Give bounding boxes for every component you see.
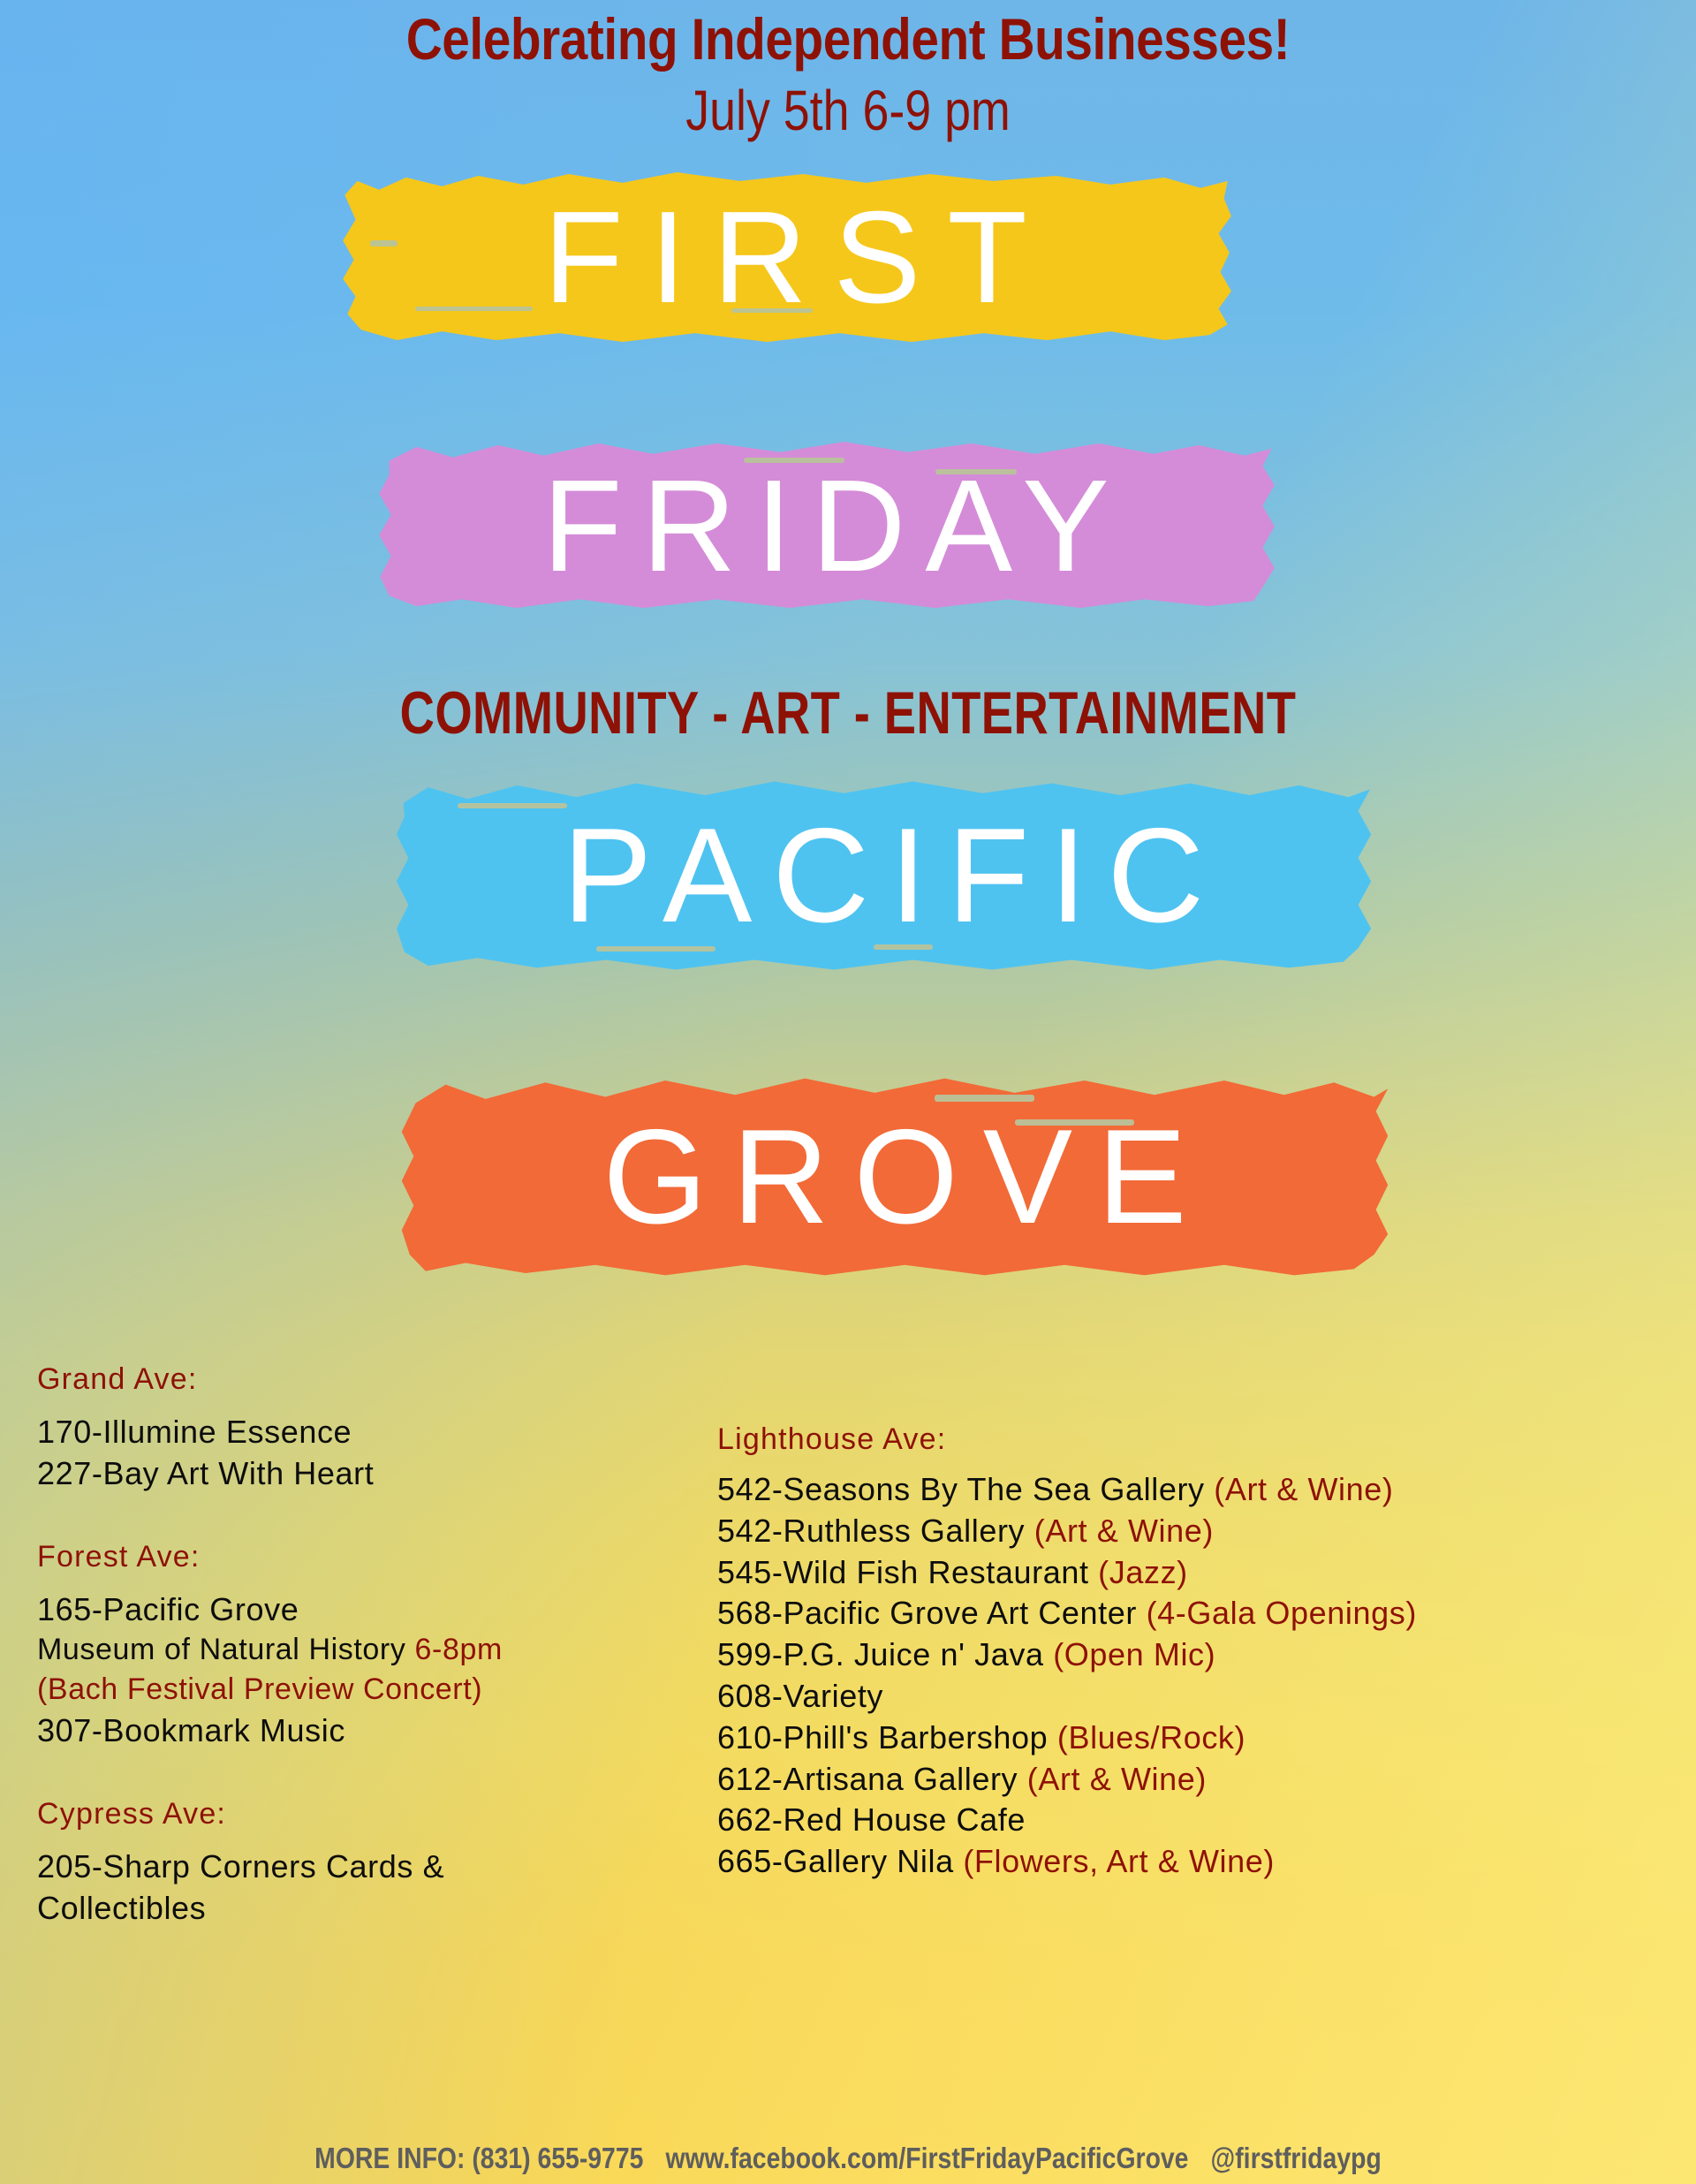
- list-item: 545-Wild Fish Restaurant (Jazz): [717, 1552, 1689, 1594]
- list-item: Collectibles: [37, 1887, 726, 1929]
- event-date-time: July 5th 6-9 pm: [136, 78, 1561, 143]
- list-item: 170-Illumine Essence: [37, 1411, 726, 1452]
- listings-right-column: Lighthouse Ave: 542-Seasons By The Sea G…: [717, 1422, 1689, 1883]
- brush-texture-fleck: [935, 469, 1018, 474]
- list-item: 665-Gallery Nila (Flowers, Art & Wine): [717, 1841, 1689, 1883]
- listing-note: 6-8pm: [415, 1633, 503, 1666]
- listing-name: 170-Illumine Essence: [37, 1414, 352, 1450]
- footer-handle[interactable]: @firstfridaypg: [1211, 2142, 1382, 2174]
- brush-texture-fleck: [1015, 1119, 1135, 1126]
- brush-texture-fleck: [458, 803, 566, 808]
- listing-name: Collectibles: [37, 1890, 206, 1926]
- listing-name: Museum of Natural History: [37, 1633, 415, 1666]
- list-item: 610-Phill's Barbershop (Blues/Rock): [717, 1718, 1689, 1759]
- listings-left-column: Grand Ave: 170-Illumine Essence 227-Bay …: [37, 1362, 726, 1929]
- listing-name: 608-Variety: [717, 1678, 883, 1714]
- page-subtitle: COMMUNITY - ART - ENTERTAINMENT: [170, 679, 1526, 747]
- listing-note: (Flowers, Art & Wine): [963, 1843, 1275, 1879]
- title-word-first: FIRST: [334, 171, 1237, 345]
- listing-note: (Blues/Rock): [1057, 1719, 1245, 1756]
- listing-name: 165-Pacific Grove: [37, 1591, 299, 1627]
- list-item: 612-Artisana Gallery (Art & Wine): [717, 1759, 1689, 1801]
- brush-texture-fleck: [731, 308, 813, 313]
- listing-group-lighthouse-ave: Lighthouse Ave: 542-Seasons By The Sea G…: [717, 1422, 1689, 1883]
- title-band-friday: FRIDAY: [371, 440, 1281, 613]
- brush-texture-fleck: [874, 944, 933, 950]
- listing-name: 307-Bookmark Music: [37, 1712, 345, 1748]
- listing-name: 665-Gallery Nila: [717, 1843, 963, 1879]
- listing-name: 542-Seasons By The Sea Gallery: [717, 1471, 1214, 1507]
- street-heading: Cypress Ave:: [37, 1797, 726, 1831]
- title-word-grove: GROVE: [396, 1074, 1394, 1279]
- list-item: 307-Bookmark Music: [37, 1710, 726, 1751]
- footer-phone: MORE INFO: (831) 655-9775: [314, 2142, 643, 2174]
- brush-texture-fleck: [415, 307, 533, 311]
- listing-group-grand-ave: Grand Ave: 170-Illumine Essence 227-Bay …: [37, 1362, 726, 1494]
- listing-note: (Art & Wine): [1034, 1513, 1214, 1549]
- list-item: 608-Variety: [717, 1676, 1689, 1718]
- title-word-friday: FRIDAY: [371, 440, 1281, 613]
- list-item: 542-Seasons By The Sea Gallery (Art & Wi…: [717, 1469, 1689, 1511]
- brush-texture-fleck: [935, 1095, 1034, 1102]
- listing-name: 545-Wild Fish Restaurant: [717, 1554, 1098, 1590]
- list-item: 662-Red House Cafe: [717, 1800, 1689, 1841]
- listing-name: 542-Ruthless Gallery: [717, 1513, 1034, 1549]
- list-item: 542-Ruthless Gallery (Art & Wine): [717, 1511, 1689, 1552]
- listing-name: 610-Phill's Barbershop: [717, 1719, 1057, 1756]
- street-heading: Forest Ave:: [37, 1540, 726, 1574]
- list-item: Museum of Natural History 6-8pm: [37, 1630, 726, 1670]
- brush-texture-fleck: [744, 458, 844, 463]
- footer-facebook[interactable]: www.facebook.com/FirstFridayPacificGrove: [666, 2142, 1189, 2174]
- list-item: (Bach Festival Preview Concert): [37, 1670, 726, 1710]
- street-heading: Lighthouse Ave:: [717, 1422, 1689, 1457]
- listing-group-cypress-ave: Cypress Ave: 205-Sharp Corners Cards & C…: [37, 1797, 726, 1929]
- page-tagline: Celebrating Independent Businesses!: [118, 5, 1577, 72]
- list-item: 568-Pacific Grove Art Center (4-Gala Ope…: [717, 1593, 1689, 1634]
- brush-texture-fleck: [370, 240, 397, 246]
- footer-contact-bar: MORE INFO: (831) 655-9775 www.facebook.c…: [118, 2142, 1577, 2175]
- listing-name: 568-Pacific Grove Art Center: [717, 1595, 1147, 1631]
- list-item: 227-Bay Art With Heart: [37, 1452, 726, 1494]
- title-band-grove: GROVE: [396, 1074, 1394, 1279]
- listing-name: 662-Red House Cafe: [717, 1801, 1026, 1838]
- title-band-pacific: PACIFIC: [389, 777, 1378, 974]
- list-item: 205-Sharp Corners Cards &: [37, 1846, 726, 1887]
- listing-name: 612-Artisana Gallery: [717, 1761, 1027, 1797]
- listing-note: (Bach Festival Preview Concert): [37, 1672, 482, 1706]
- listing-group-forest-ave: Forest Ave: 165-Pacific Grove Museum of …: [37, 1540, 726, 1750]
- listing-note: (Art & Wine): [1027, 1761, 1207, 1797]
- listing-name: 205-Sharp Corners Cards &: [37, 1848, 444, 1884]
- listing-note: (Art & Wine): [1214, 1471, 1393, 1507]
- listing-name: 599-P.G. Juice n' Java: [717, 1636, 1053, 1672]
- listing-note: (4-Gala Openings): [1147, 1595, 1417, 1631]
- listing-name: 227-Bay Art With Heart: [37, 1455, 374, 1491]
- street-heading: Grand Ave:: [37, 1362, 726, 1397]
- list-item: 599-P.G. Juice n' Java (Open Mic): [717, 1634, 1689, 1676]
- list-item: 165-Pacific Grove: [37, 1589, 726, 1630]
- title-band-first: FIRST: [334, 171, 1237, 345]
- brush-texture-fleck: [596, 946, 715, 952]
- listing-note: (Jazz): [1098, 1554, 1188, 1590]
- listing-note: (Open Mic): [1053, 1636, 1215, 1672]
